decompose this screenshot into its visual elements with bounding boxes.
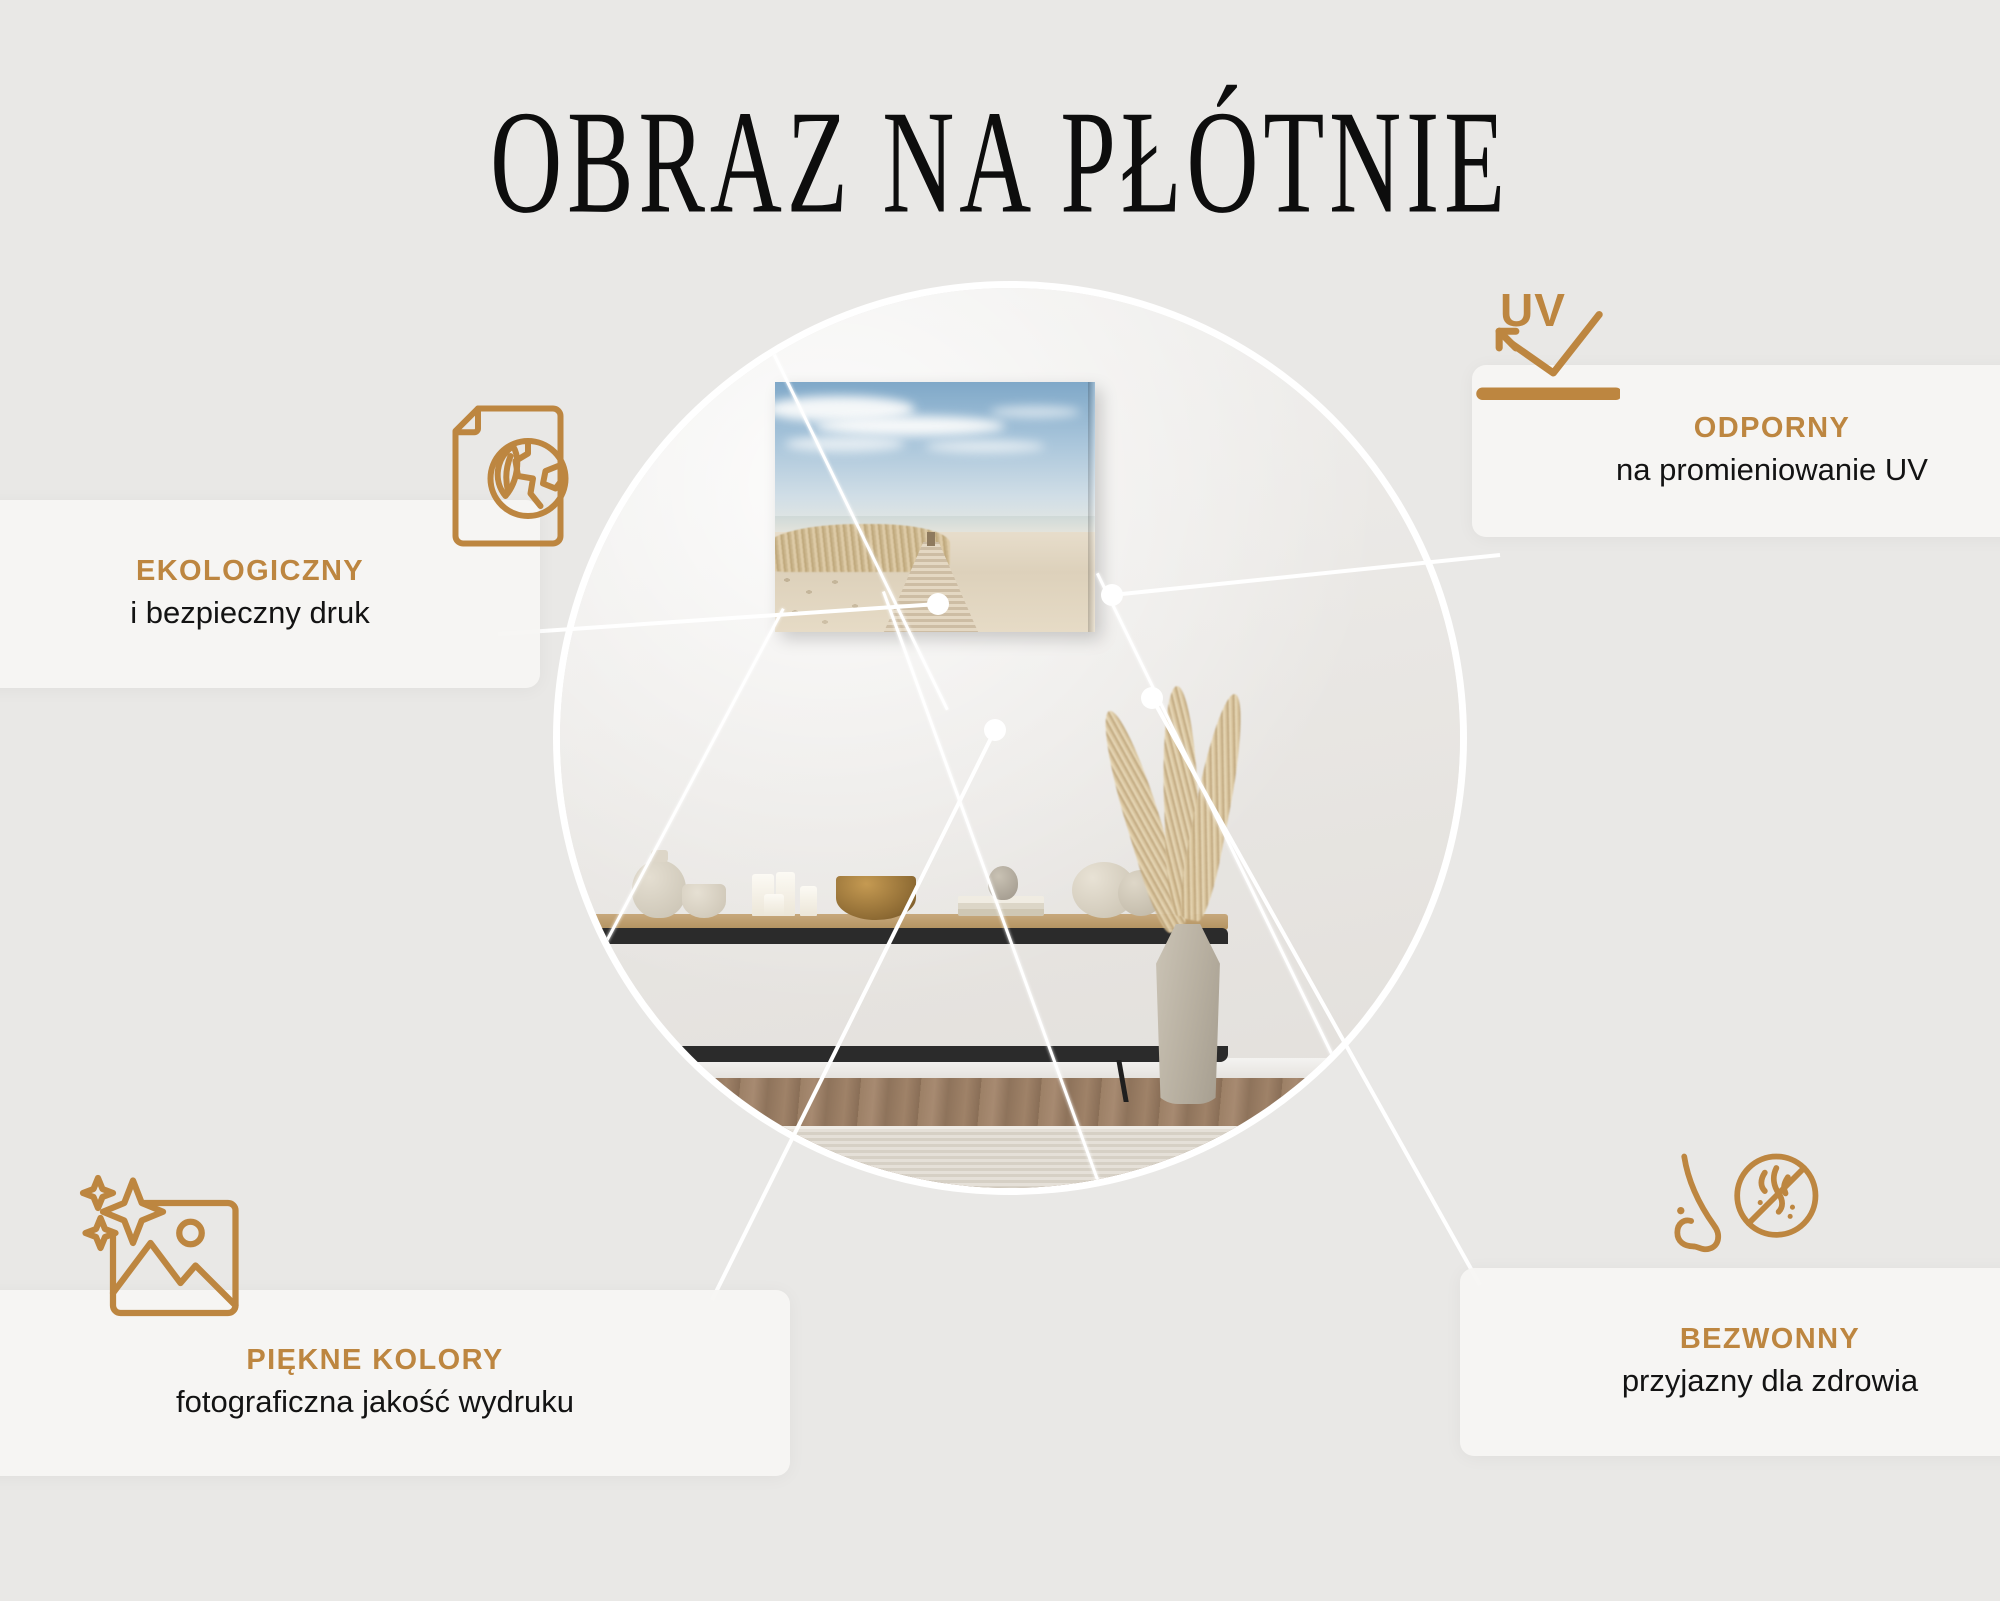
feature-card-odor[interactable]: BEZWONNY przyjazny dla zdrowia: [1460, 1268, 2000, 1456]
cloud: [990, 406, 1080, 418]
candle: [764, 894, 784, 916]
sideboard-fluted-front: [578, 942, 1222, 1050]
brass-bowl: [836, 876, 916, 920]
cloud: [925, 440, 1045, 453]
ceramic-vase: [632, 860, 686, 918]
feature-headline-colors: PIĘKNE KOLORY: [0, 1344, 790, 1377]
interior-room-scene: [560, 288, 1460, 1188]
room-photo-circle: [560, 288, 1460, 1188]
ceramic-bowl: [682, 884, 726, 918]
feature-sub-colors: fotograficzna jakość wydruku: [0, 1383, 790, 1422]
sideboard-base: [572, 1046, 1228, 1062]
cloud: [785, 436, 905, 452]
area-rug: [560, 1126, 1460, 1188]
sideboard-leg: [620, 1060, 625, 1102]
cloud: [815, 416, 1005, 436]
artwork-dune-grass-right: [955, 520, 1095, 582]
uv-reflect-icon: [1470, 285, 1620, 415]
feature-sub-eco: i bezpieczny druk: [0, 594, 540, 633]
canvas-edge: [1088, 382, 1095, 632]
candle: [800, 886, 817, 916]
feature-sub-uv: na promieniowanie UV: [1472, 451, 2000, 490]
canvas-artwork: [775, 382, 1095, 632]
feature-headline-uv: ODPORNY: [1472, 412, 2000, 445]
artwork-post: [927, 532, 935, 546]
feature-headline-odor: BEZWONNY: [1460, 1323, 2000, 1356]
nose-no-smell-icon: [1652, 1146, 1827, 1296]
wicker-basket: [580, 1088, 690, 1188]
feature-headline-eco: EKOLOGICZNY: [0, 555, 540, 588]
artwork-footprints: [775, 572, 893, 632]
picture-sparkle-icon: [78, 1168, 253, 1328]
page-title: OBRAZ NA PŁÓTNIE: [40, 78, 1960, 247]
infographic-root: OBRAZ NA PŁÓTNIE: [0, 0, 2000, 1601]
document-eco-globe-icon: [428, 396, 588, 556]
feature-sub-odor: przyjazny dla zdrowia: [1460, 1362, 2000, 1401]
